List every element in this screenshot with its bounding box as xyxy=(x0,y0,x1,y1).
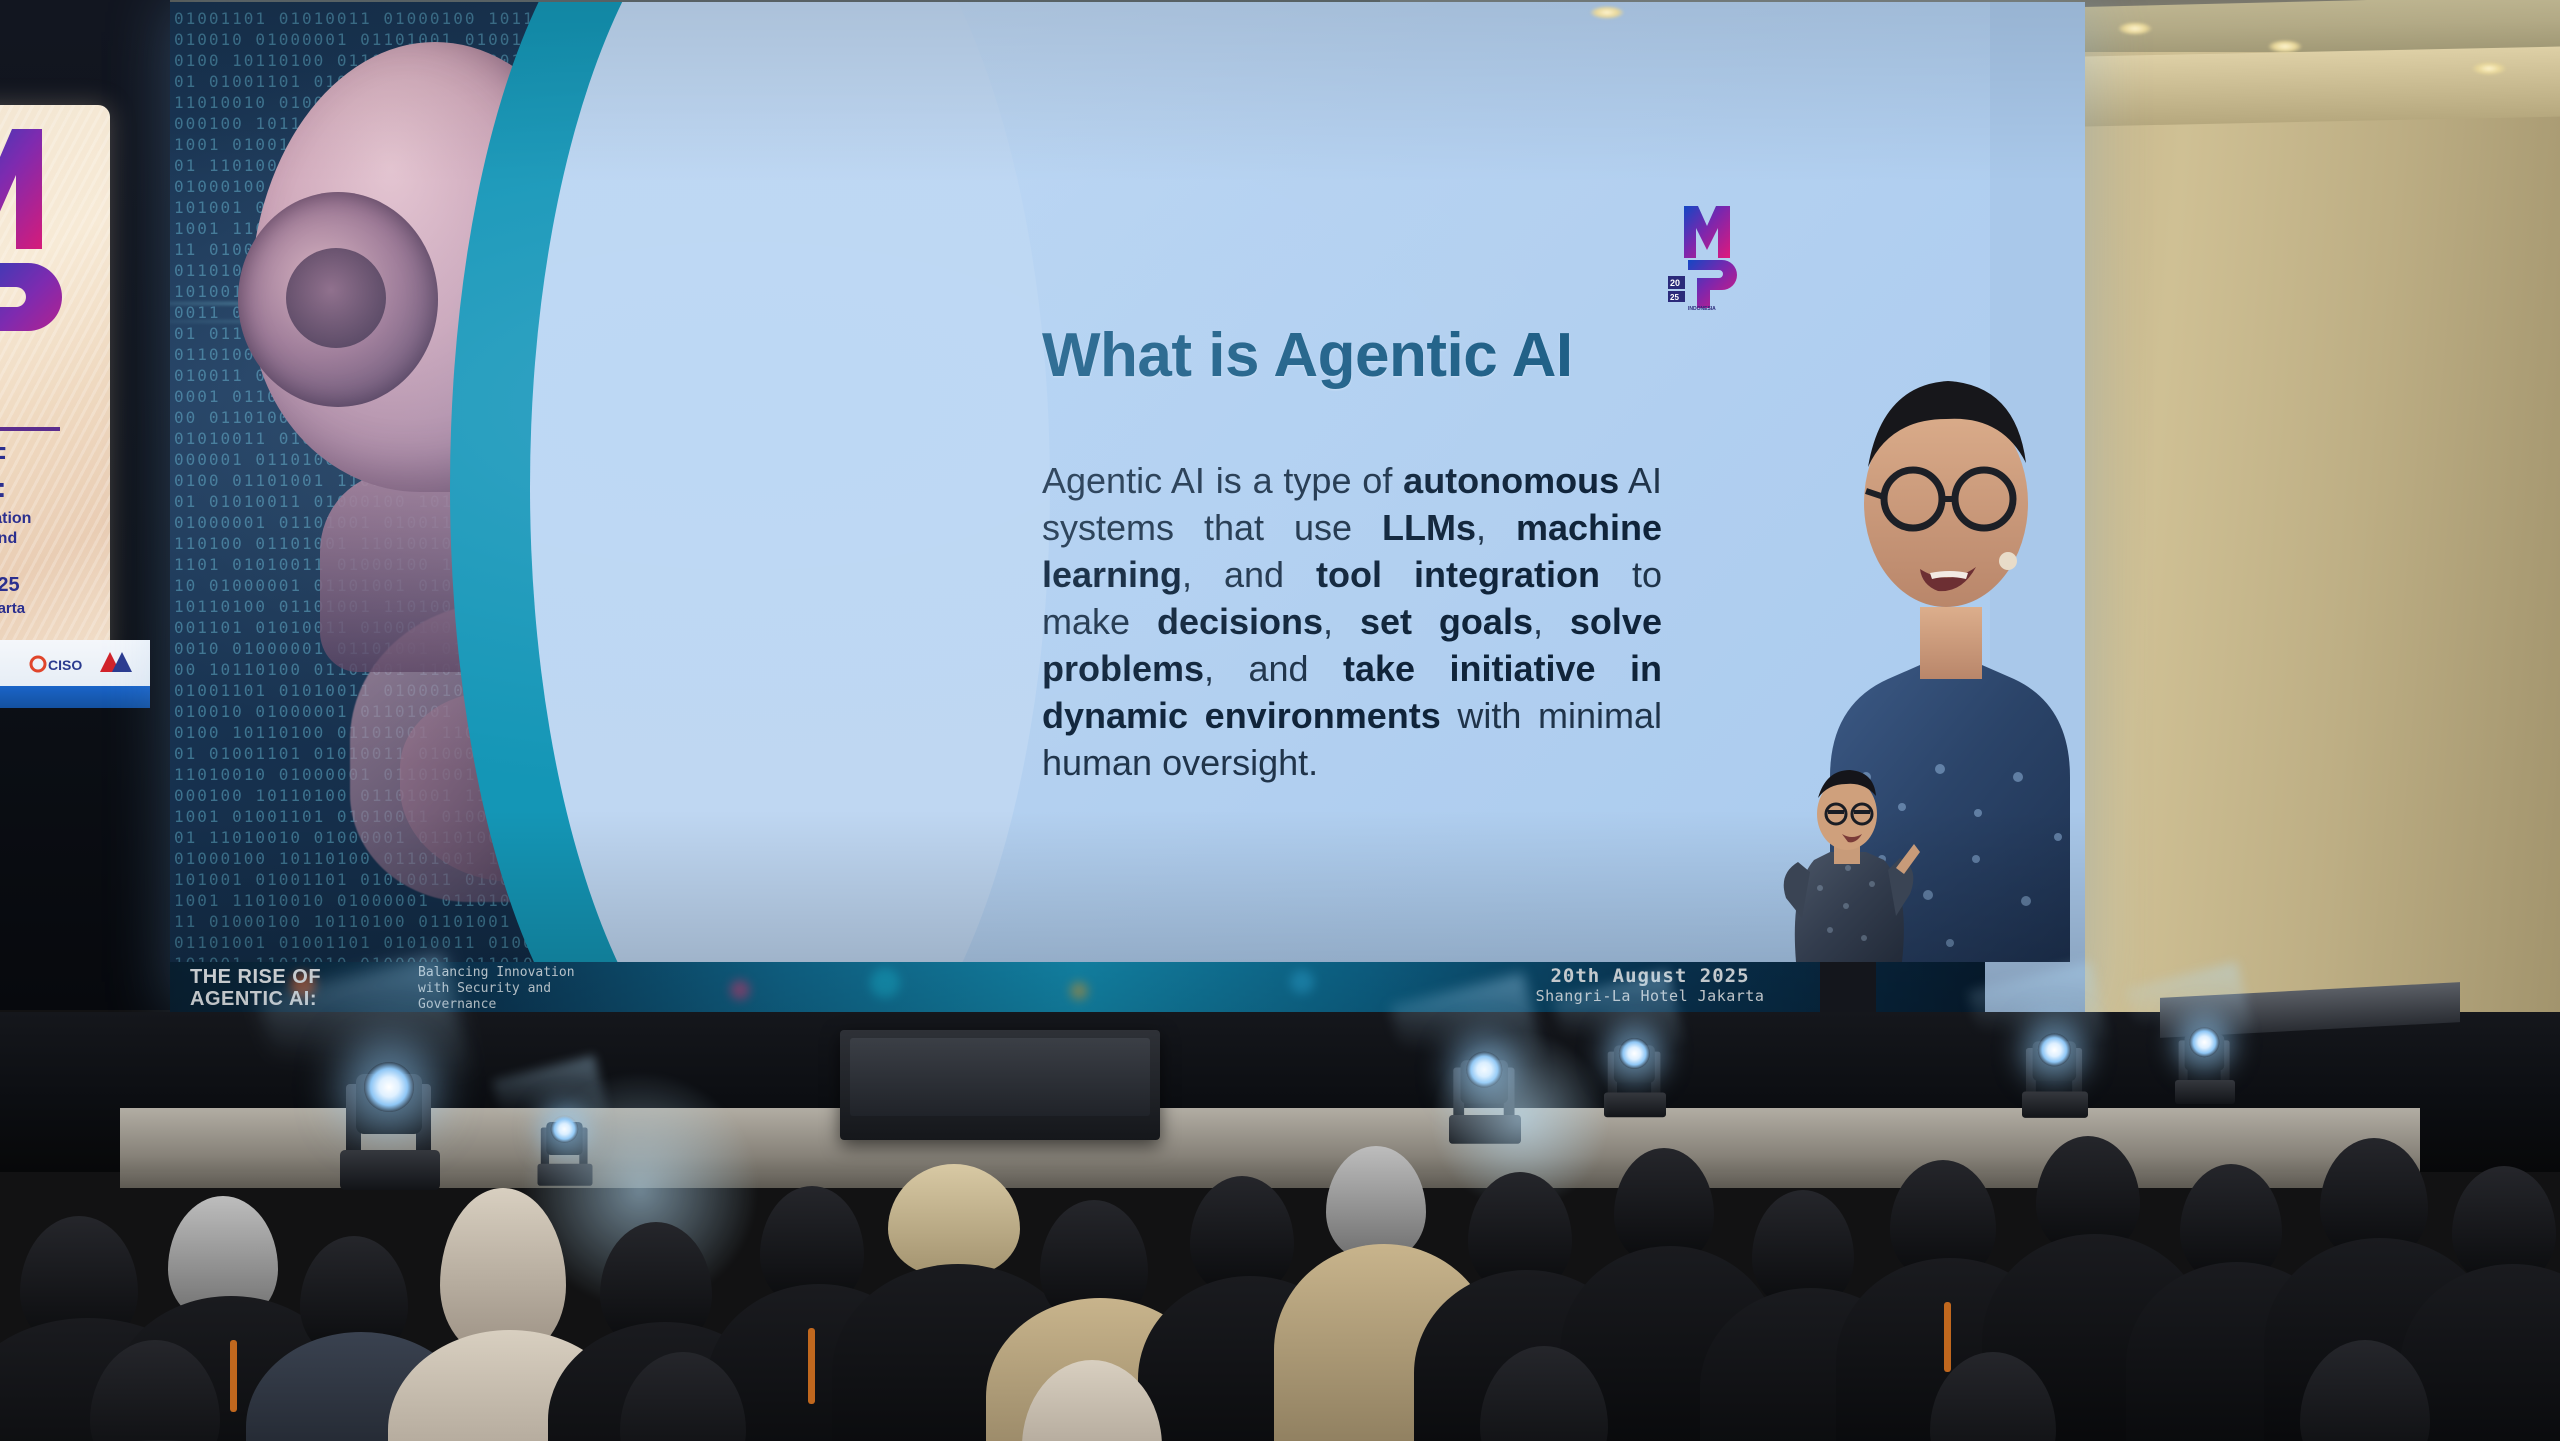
svg-text:CISO: CISO xyxy=(48,657,82,673)
right-wall-panelling xyxy=(2040,52,2560,1012)
poster-divider xyxy=(0,427,60,431)
poster-sponsor-strip: T CISO xyxy=(0,640,150,688)
light-curve-panel xyxy=(530,2,1050,1012)
audience-silhouettes xyxy=(0,1040,2560,1441)
right-wall-cornice xyxy=(2040,47,2560,128)
robot-ear xyxy=(238,192,438,407)
msd-logo: 20 25 INDONESIA xyxy=(1662,200,1762,312)
slide-body-text: Agentic AI is a type of autonomous AI sy… xyxy=(1042,457,1662,786)
svg-text:INDONESIA: INDONESIA xyxy=(1688,306,1716,312)
svg-text:20: 20 xyxy=(1670,278,1680,288)
slide-title: What is Agentic AI xyxy=(1042,320,1573,391)
poster-subtitle: ovation and xyxy=(0,509,68,549)
svg-text:25: 25 xyxy=(1670,293,1679,302)
speaker-on-stage xyxy=(1768,748,1928,1056)
poster-date: 925 akarta xyxy=(0,573,68,621)
poster-title: E OF C AI: xyxy=(0,441,68,503)
left-event-poster: E OF C AI: ovation and 925 akarta xyxy=(0,105,110,665)
conference-photo-scene: E OF C AI: ovation and 925 akarta T CISO… xyxy=(0,0,2560,1441)
poster-msd-logo xyxy=(0,113,68,383)
poster-sponsor-bar xyxy=(0,686,150,708)
